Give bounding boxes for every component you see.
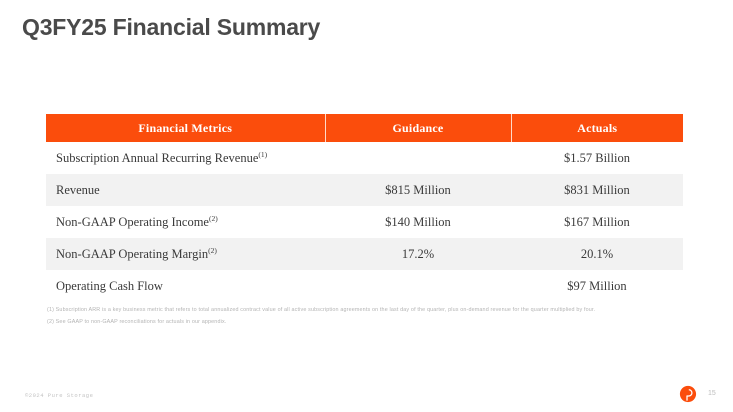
column-header-financial-metrics: Financial Metrics xyxy=(46,114,325,142)
cell-actuals-value: $167 Million xyxy=(511,206,683,238)
financial-summary-table: Financial Metrics Guidance Actuals Subsc… xyxy=(46,114,683,302)
column-header-actuals: Actuals xyxy=(511,114,683,142)
metric-label: Subscription Annual Recurring Revenue xyxy=(56,151,258,165)
table-row: Revenue $815 Million $831 Million xyxy=(46,174,683,206)
cell-actuals-value: $831 Million xyxy=(511,174,683,206)
footnotes-block: (1) Subscription ARR is a key business m… xyxy=(47,305,707,328)
cell-actuals-value: 20.1% xyxy=(511,238,683,270)
page-number: 15 xyxy=(708,390,716,397)
metric-label: Revenue xyxy=(56,183,100,197)
table-row: Non-GAAP Operating Margin(2) 17.2% 20.1% xyxy=(46,238,683,270)
cell-metric-name: Non-GAAP Operating Margin(2) xyxy=(46,238,325,270)
table-row: Non-GAAP Operating Income(2) $140 Millio… xyxy=(46,206,683,238)
footnote-1: (1) Subscription ARR is a key business m… xyxy=(47,305,707,317)
cell-guidance-value: $815 Million xyxy=(325,174,511,206)
cell-metric-name: Operating Cash Flow xyxy=(46,270,325,302)
cell-metric-name: Revenue xyxy=(46,174,325,206)
footnote-marker: (2) xyxy=(209,213,218,222)
cell-actuals-value: $1.57 Billion xyxy=(511,142,683,174)
metric-label: Operating Cash Flow xyxy=(56,279,163,293)
slide-canvas: Q3FY25 Financial Summary Financial Metri… xyxy=(0,0,733,412)
footnote-marker: (1) xyxy=(258,149,267,158)
table-body: Subscription Annual Recurring Revenue(1)… xyxy=(46,142,683,302)
metric-label: Non-GAAP Operating Income xyxy=(56,215,209,229)
financial-summary-table-container: Financial Metrics Guidance Actuals Subsc… xyxy=(46,114,683,302)
footnote-2: (2) See GAAP to non-GAAP reconciliations… xyxy=(47,317,707,329)
metric-label: Non-GAAP Operating Margin xyxy=(56,247,208,261)
cell-guidance-value xyxy=(325,142,511,174)
table-header-row: Financial Metrics Guidance Actuals xyxy=(46,114,683,142)
column-header-guidance: Guidance xyxy=(325,114,511,142)
table-row: Operating Cash Flow $97 Million xyxy=(46,270,683,302)
cell-guidance-value xyxy=(325,270,511,302)
copyright-text: ©2024 Pure Storage xyxy=(25,392,93,399)
cell-actuals-value: $97 Million xyxy=(511,270,683,302)
cell-metric-name: Subscription Annual Recurring Revenue(1) xyxy=(46,142,325,174)
table-row: Subscription Annual Recurring Revenue(1)… xyxy=(46,142,683,174)
cell-guidance-value: $140 Million xyxy=(325,206,511,238)
table-header: Financial Metrics Guidance Actuals xyxy=(46,114,683,142)
pure-storage-logo-icon xyxy=(679,385,697,403)
footnote-marker: (2) xyxy=(208,245,217,254)
cell-guidance-value: 17.2% xyxy=(325,238,511,270)
page-title: Q3FY25 Financial Summary xyxy=(22,14,320,41)
cell-metric-name: Non-GAAP Operating Income(2) xyxy=(46,206,325,238)
